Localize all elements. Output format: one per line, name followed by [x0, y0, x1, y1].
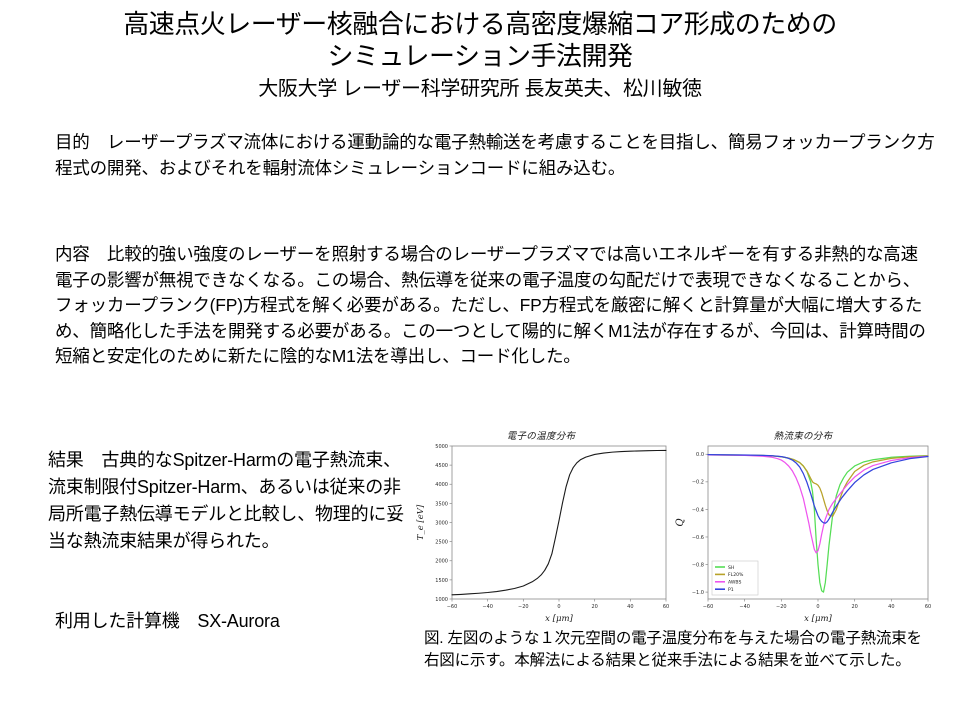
svg-text:0: 0: [816, 604, 819, 610]
svg-text:−0.2: −0.2: [692, 480, 704, 486]
svg-text:60: 60: [925, 604, 931, 610]
svg-text:40: 40: [627, 604, 633, 610]
svg-text:1500: 1500: [435, 578, 448, 584]
svg-text:x [μm]: x [μm]: [804, 614, 832, 623]
authors-line: 大阪大学 レーザー科学研究所 長友英夫、松川敏徳: [0, 75, 960, 103]
chart-heat-flux: 熱流束の分布 −60−40−2002040600.0−0.2−0.4−0.6−0…: [674, 428, 932, 623]
svg-text:−20: −20: [776, 604, 787, 610]
title-block: 高速点火レーザー核融合における高密度爆縮コア形成のための シミュレーション手法開…: [0, 8, 960, 103]
svg-text:−1.0: −1.0: [692, 590, 704, 596]
svg-text:−60: −60: [703, 604, 714, 610]
section-content: 内容 比較的強い強度のレーザーを照射する場合のレーザープラズマでは高いエネルギー…: [55, 242, 935, 370]
svg-text:3500: 3500: [435, 501, 448, 507]
svg-text:2000: 2000: [435, 559, 448, 565]
chart-canvas-right: −60−40−2002040600.0−0.2−0.4−0.6−0.8−1.0x…: [674, 440, 932, 623]
svg-text:−0.4: −0.4: [692, 507, 704, 513]
svg-text:−0.6: −0.6: [692, 535, 704, 541]
svg-text:2500: 2500: [435, 540, 448, 546]
figure-caption: 図. 左図のような１次元空間の電子温度分布を与えた場合の電子熱流束を右図に示す。…: [424, 628, 924, 672]
svg-text:−40: −40: [739, 604, 750, 610]
page-title-line-2: シミュレーション手法開発: [0, 40, 960, 72]
svg-text:0.0: 0.0: [696, 452, 704, 458]
svg-text:SH: SH: [728, 565, 734, 571]
svg-text:−20: −20: [518, 604, 529, 610]
slide-root: 高速点火レーザー核融合における高密度爆縮コア形成のための シミュレーション手法開…: [0, 0, 960, 720]
section-machine: 利用した計算機 SX-Aurora: [55, 608, 435, 634]
chart-canvas-left: −60−40−200204060100015002000250030003500…: [412, 440, 670, 623]
section-result: 結果 古典的なSpitzer-Harmの電子熱流束、流束制限付Spitzer-H…: [48, 447, 408, 555]
chart-electron-temperature: 電子の温度分布 −60−40−2002040601000150020002500…: [412, 428, 670, 623]
svg-text:20: 20: [591, 604, 597, 610]
svg-text:T_e [eV]: T_e [eV]: [416, 504, 426, 540]
svg-text:60: 60: [663, 604, 669, 610]
section-purpose: 目的 レーザープラズマ流体における運動論的な電子熱輸送を考慮することを目指し、簡…: [55, 130, 935, 181]
svg-text:4500: 4500: [435, 463, 448, 469]
svg-text:FL20%: FL20%: [728, 572, 744, 578]
svg-text:20: 20: [851, 604, 857, 610]
svg-text:0: 0: [557, 604, 560, 610]
figure-panel: 電子の温度分布 −60−40−2002040601000150020002500…: [412, 428, 942, 623]
page-title-line-1: 高速点火レーザー核融合における高密度爆縮コア形成のための: [0, 8, 960, 40]
svg-text:Q: Q: [675, 518, 686, 526]
svg-text:x [μm]: x [μm]: [545, 614, 573, 623]
svg-text:5000: 5000: [435, 444, 448, 450]
svg-text:−40: −40: [482, 604, 493, 610]
svg-text:3000: 3000: [435, 520, 448, 526]
svg-text:1000: 1000: [435, 597, 448, 603]
svg-text:−0.8: −0.8: [692, 562, 704, 568]
svg-text:AWBS: AWBS: [728, 580, 742, 586]
svg-text:40: 40: [888, 604, 894, 610]
svg-text:4000: 4000: [435, 482, 448, 488]
svg-text:−60: −60: [447, 604, 458, 610]
svg-text:P1: P1: [728, 587, 734, 593]
